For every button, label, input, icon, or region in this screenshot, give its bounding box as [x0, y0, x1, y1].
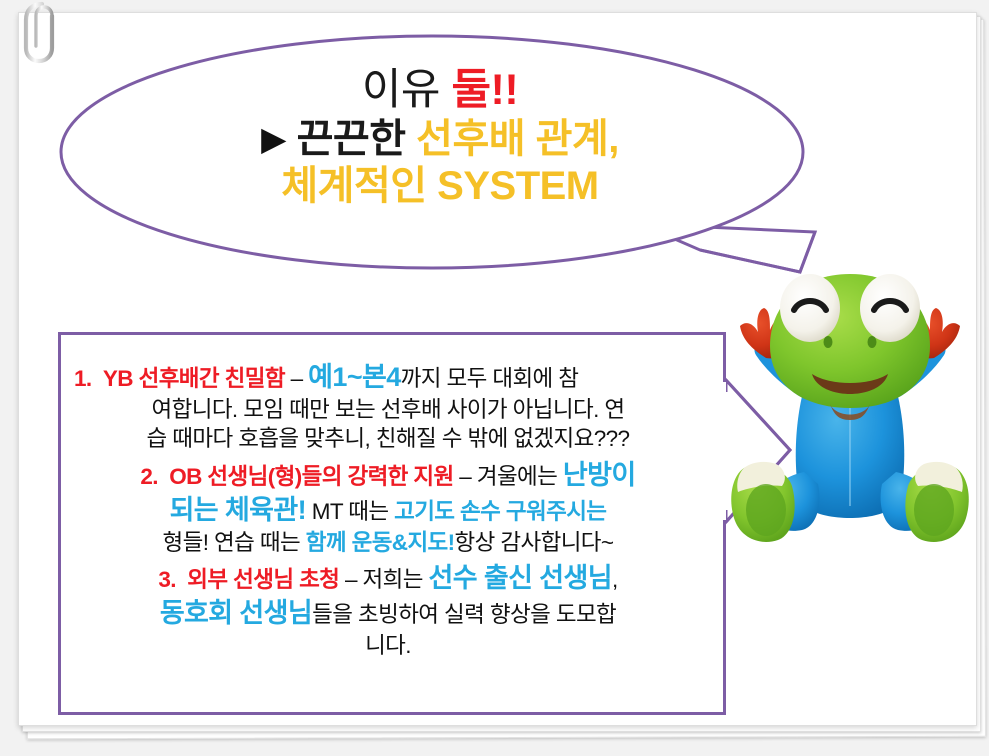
list-item-rest: 까지 모두 대회에 참: [401, 366, 579, 391]
list-item-number: 3.: [158, 567, 176, 592]
list-item-line: 습 때마다 호흡을 맞추니, 친해질 수 밖에 없겠지요???: [72, 424, 704, 453]
list-item-highlight: 동호회 선생님: [160, 598, 312, 628]
speech-bubble-text: 이유 둘!! ▶ 끈끈한 선후배 관계, 체계적인 SYSTEM: [180, 66, 700, 209]
list-item-highlight: 고기도 손수 구워주시는: [394, 499, 606, 524]
frog-left-nostril: [824, 336, 833, 348]
list-item-comma: ,: [612, 567, 618, 592]
paperclip-icon: [12, 0, 72, 72]
list-item-plain: 형들! 연습 때는: [163, 530, 306, 555]
list-item: 2. OB 선생님(형)들의 강력한 지원 – 겨울에는 난방이 되는 체육관!…: [72, 458, 704, 557]
frog-left-foot: [731, 462, 794, 542]
list-item-line: 2. OB 선생님(형)들의 강력한 지원 – 겨울에는 난방이: [72, 458, 704, 493]
frog-right-eye: [860, 274, 920, 342]
list-item-dash: –: [285, 366, 308, 391]
list-item-highlight: 함께 운동&지도!: [306, 530, 455, 555]
list-item-plain: 겨울에는: [477, 464, 563, 489]
list-item-line: 되는 체육관! MT 때는 고기도 손수 구워주시는: [72, 493, 704, 528]
frog-right-nostril: [868, 336, 877, 348]
list-item-highlight: 선수 출신 선생님: [428, 563, 611, 593]
title-line-3: 체계적인 SYSTEM: [180, 164, 700, 210]
list-item-number: 1.: [74, 366, 92, 391]
list-item-line: 형들! 연습 때는 함께 운동&지도!항상 감사합니다~: [72, 528, 704, 557]
title-line-2-highlight: 선후배 관계,: [416, 117, 619, 161]
list-item-heading: OB 선생님(형)들의 강력한 지원: [169, 464, 453, 489]
list-item-heading: YB 선후배간 친밀함: [103, 366, 285, 391]
list-item-dash: –: [339, 567, 362, 592]
play-triangle-icon: ▶: [261, 120, 286, 157]
list-item-line: 동호회 선생님들을 초빙하여 실력 향상을 도모합: [72, 596, 704, 631]
list-item: 1. YB 선후배간 친밀함 – 예1~본4까지 모두 대회에 참 여합니다. …: [72, 360, 704, 454]
list-item-line: 여합니다. 모임 때만 보는 선후배 사이가 아닙니다. 연: [72, 395, 704, 424]
title-line-1-highlight: 둘!!: [451, 66, 518, 114]
content-box-text: 1. YB 선후배간 친밀함 – 예1~본4까지 모두 대회에 참 여합니다. …: [58, 332, 726, 715]
list-item-highlight: 난방이: [563, 460, 636, 490]
title-line-1-prefix: 이유: [362, 66, 452, 114]
list-item: 3. 외부 선생님 초청 – 저희는 선수 출신 선생님, 동호회 선생님들을 …: [72, 561, 704, 660]
list-item-plain: 저희는: [363, 567, 429, 592]
slide-root: 이유 둘!! ▶ 끈끈한 선후배 관계, 체계적인 SYSTEM 1. YB 선…: [0, 0, 989, 756]
list-item-heading: 외부 선생님 초청: [187, 567, 339, 592]
list-item-plain: 항상 감사합니다~: [455, 530, 614, 555]
list-item-plain: 들을 초빙하여 실력 향상을 도모합: [312, 602, 616, 627]
title-line-2-plain: 끈끈한: [286, 117, 416, 161]
list-item-line: 1. YB 선후배간 친밀함 – 예1~본4까지 모두 대회에 참: [72, 360, 704, 395]
title-line-1: 이유 둘!!: [180, 66, 700, 115]
frog-mascot: [726, 262, 974, 552]
list-item-number: 2.: [140, 464, 158, 489]
list-item-highlight: 예1~본4: [308, 362, 400, 392]
title-line-2: ▶ 끈끈한 선후배 관계,: [180, 117, 700, 163]
list-item-plain: MT 때는: [306, 499, 394, 524]
list-item-line: 3. 외부 선생님 초청 – 저희는 선수 출신 선생님,: [72, 561, 704, 596]
frog-left-eye: [780, 274, 840, 342]
list-item-line: 니다.: [72, 631, 704, 660]
list-item-dash: –: [454, 464, 477, 489]
frog-right-foot: [905, 462, 968, 542]
list-item-highlight: 되는 체육관!: [170, 495, 307, 525]
